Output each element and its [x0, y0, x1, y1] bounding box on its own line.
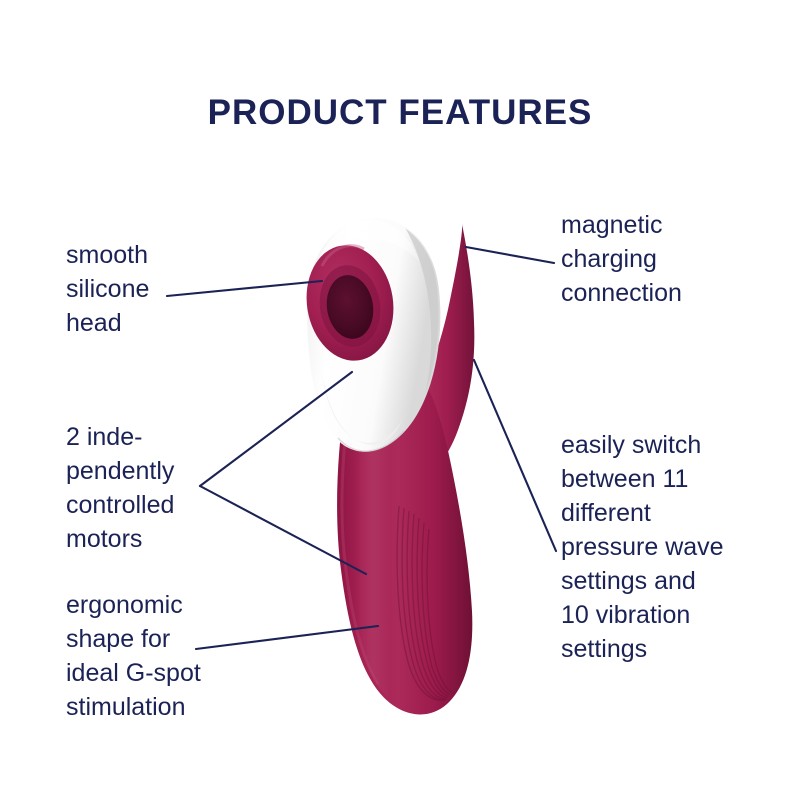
callout-pressure-wave-and-vibration-settings: easily switch between 11 different press…	[561, 428, 786, 666]
leader-line-magnetic	[466, 247, 554, 263]
product-body	[298, 218, 486, 724]
footer-spacer	[0, 796, 800, 800]
leader-line-settings	[474, 360, 556, 551]
callout-independently-controlled-motors: 2 inde- pendently controlled motors	[66, 420, 266, 556]
callout-ergonomic-shape: ergonomic shape for ideal G-spot stimula…	[66, 588, 281, 724]
product-features-infographic: PRODUCT FEATURES	[0, 0, 800, 800]
callout-smooth-silicone-head: smooth silicone head	[66, 238, 256, 340]
callout-magnetic-charging-connection: magnetic charging connection	[561, 208, 781, 310]
